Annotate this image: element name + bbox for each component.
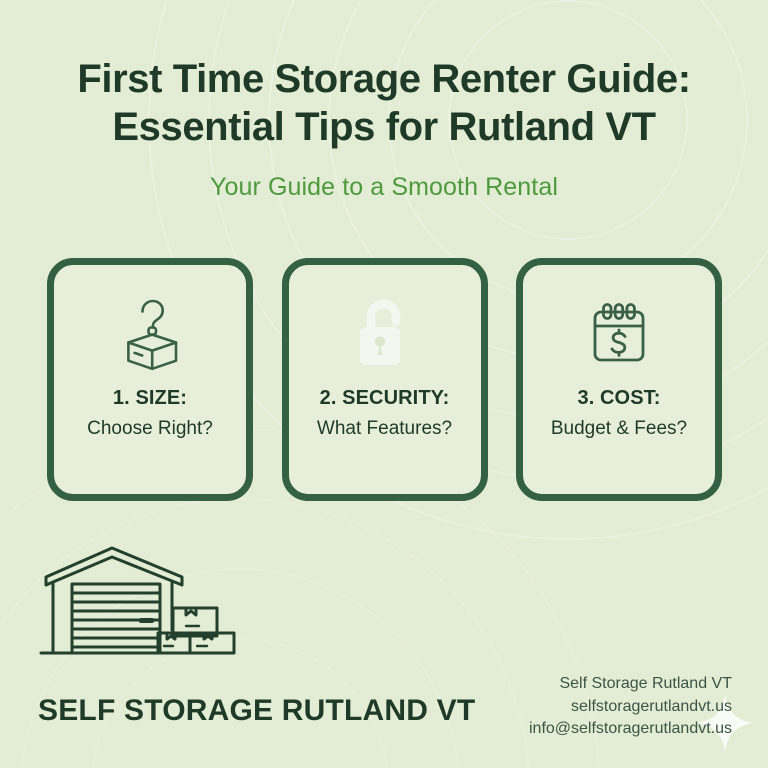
- storage-unit-building-icon: [36, 543, 252, 671]
- contact-block: Self Storage Rutland VT selfstoragerutla…: [529, 673, 732, 741]
- page-subtitle: Your Guide to a Smooth Rental: [28, 173, 740, 202]
- contact-website[interactable]: selfstoragerutlandvt.us: [529, 696, 732, 719]
- tip-card-subtext: Choose Right?: [87, 418, 213, 440]
- header-block: First Time Storage Renter Guide: Essenti…: [0, 56, 768, 202]
- box-with-question-hook-icon: [119, 293, 181, 375]
- title-line-1: First Time Storage Renter Guide:: [28, 56, 740, 104]
- brand-wordmark: SELF STORAGE RUTLAND VT: [38, 694, 475, 728]
- contact-email[interactable]: info@selfstoragerutlandvt.us: [529, 718, 732, 741]
- tip-card-heading: 3. COST:: [577, 387, 660, 410]
- tip-card-subtext: Budget & Fees?: [551, 418, 687, 440]
- tip-card-heading: 1. SIZE:: [113, 387, 187, 410]
- tip-card-security[interactable]: 2. SECURITY: What Features?: [282, 258, 488, 501]
- calendar-dollar-icon: [588, 293, 650, 375]
- tip-card-subtext: What Features?: [317, 418, 452, 440]
- page-title: First Time Storage Renter Guide: Essenti…: [28, 56, 740, 151]
- tip-card-cost[interactable]: 3. COST: Budget & Fees?: [516, 258, 722, 501]
- title-line-2: Essential Tips for Rutland VT: [28, 104, 740, 152]
- contact-company-name: Self Storage Rutland VT: [529, 673, 732, 696]
- open-padlock-icon: [356, 293, 414, 375]
- tip-card-size[interactable]: 1. SIZE: Choose Right?: [47, 258, 253, 501]
- tip-card-heading: 2. SECURITY:: [320, 387, 450, 410]
- tips-card-row: 1. SIZE: Choose Right? 2. SECURITY: What…: [47, 258, 722, 501]
- infographic-poster: First Time Storage Renter Guide: Essenti…: [0, 0, 768, 768]
